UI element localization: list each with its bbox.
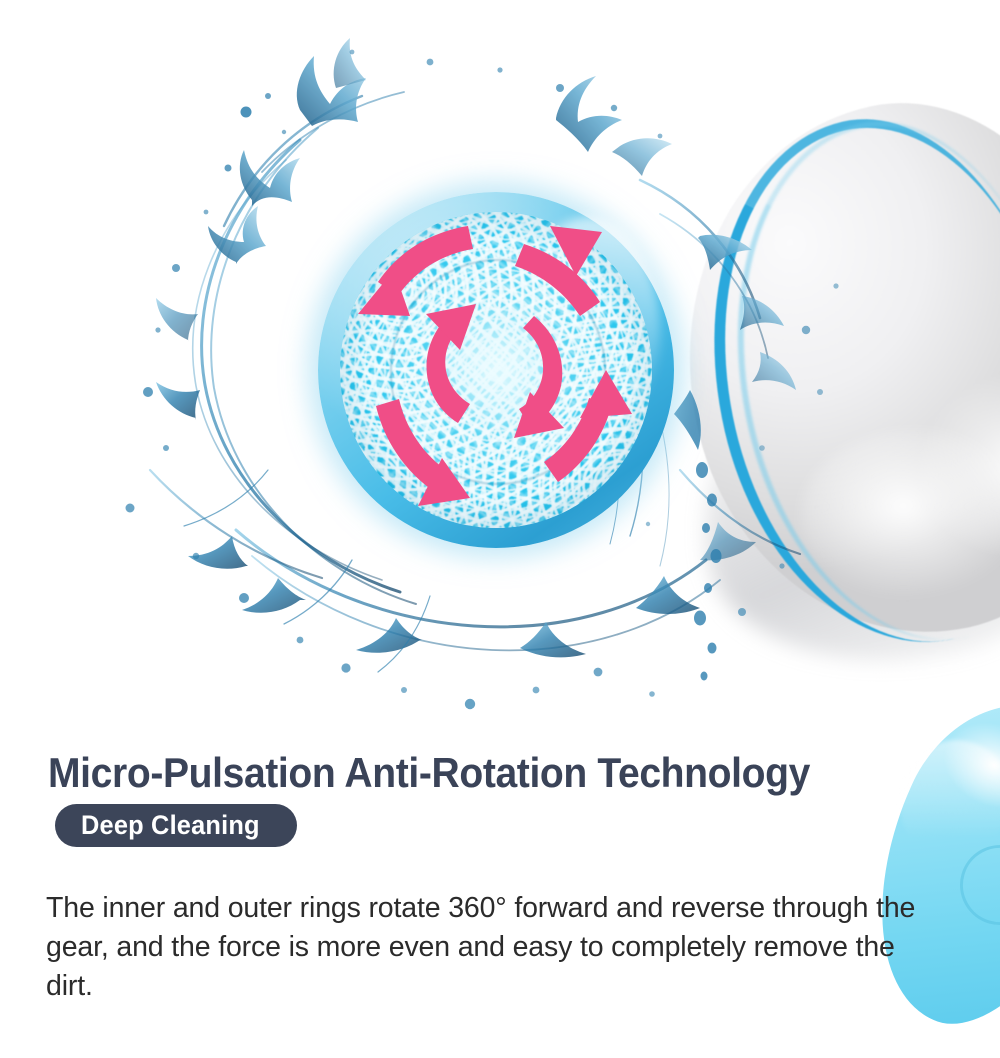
page-title: Micro-Pulsation Anti-Rotation Technology — [48, 749, 810, 797]
rotation-arrows — [318, 192, 674, 548]
feature-description: The inner and outer rings rotate 360° fo… — [46, 889, 946, 1006]
product-hero-image — [0, 0, 1000, 745]
badge-label: Deep Cleaning — [81, 812, 260, 839]
status-badge: Deep Cleaning — [55, 804, 297, 847]
feature-text-block: Micro-Pulsation Anti-Rotation Technology… — [0, 742, 1000, 1000]
